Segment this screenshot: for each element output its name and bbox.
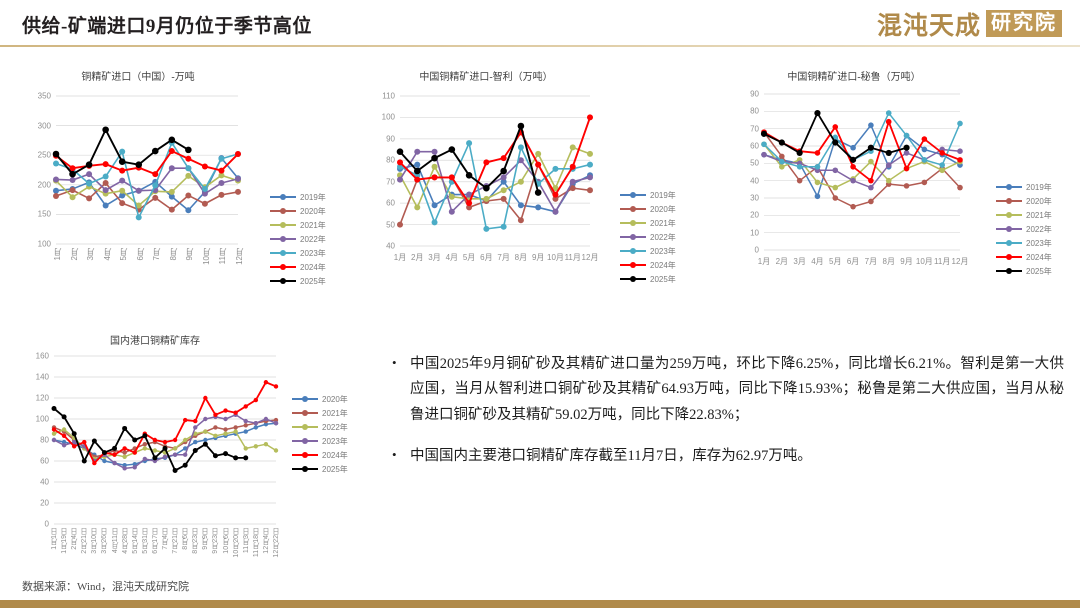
series-marker <box>152 195 158 201</box>
legend-item-2023年[interactable]: 2023年 <box>996 236 1052 250</box>
series-marker <box>815 150 821 156</box>
series-marker <box>72 444 76 448</box>
x-axis-tick: 11月18日 <box>252 528 262 557</box>
series-marker <box>82 459 87 464</box>
series-marker <box>185 165 191 171</box>
legend-label: 2019年 <box>650 190 676 201</box>
series-marker <box>779 159 785 165</box>
x-axis-tick: 5月14日 <box>131 528 141 554</box>
legend-label: 2021年 <box>1026 210 1052 221</box>
legend-item-2024年[interactable]: 2024年 <box>620 258 676 272</box>
legend-label: 2024年 <box>322 450 348 461</box>
series-marker <box>264 442 268 446</box>
legend-item-2022年[interactable]: 2022年 <box>270 232 326 246</box>
legend-item-2025年[interactable]: 2025年 <box>996 264 1052 278</box>
series-marker <box>62 414 67 419</box>
series-marker <box>886 110 892 116</box>
series-marker <box>136 188 142 194</box>
series-marker <box>223 427 227 431</box>
x-axis-tick: 6月17日 <box>151 528 161 554</box>
series-marker <box>466 200 472 206</box>
series-marker <box>70 187 76 193</box>
legend-item-2025年[interactable]: 2025年 <box>270 274 326 288</box>
series-marker <box>169 148 175 154</box>
series-marker <box>169 137 176 144</box>
legend-label: 2021年 <box>322 408 348 419</box>
series-marker <box>254 398 258 402</box>
x-axis-tick: 12月 <box>952 256 969 267</box>
legend-item-2024年[interactable]: 2024年 <box>270 260 326 274</box>
series-marker <box>850 145 856 151</box>
series-marker <box>432 202 438 208</box>
series-marker <box>483 226 489 232</box>
legend-swatch-icon <box>996 196 1022 206</box>
series-marker <box>86 171 92 177</box>
series-marker <box>233 455 238 460</box>
data-source-note: 数据来源：Wind，混沌天成研究院 <box>22 578 189 594</box>
series-marker <box>552 192 558 198</box>
legend-swatch-icon <box>270 262 296 272</box>
series-marker <box>274 384 278 388</box>
series-marker <box>52 406 57 411</box>
footer-bar <box>0 600 1080 608</box>
series-marker <box>185 147 192 154</box>
series-marker <box>264 417 268 421</box>
series-marker <box>466 140 472 146</box>
x-axis-tick: 12月22日 <box>272 528 282 558</box>
legend-item-2023年[interactable]: 2023年 <box>620 244 676 258</box>
series-marker <box>552 209 558 215</box>
series-marker <box>570 144 576 150</box>
x-axis-tick: 6月 <box>847 256 859 267</box>
x-axis-tick: 1月19日 <box>60 528 70 554</box>
series-marker <box>122 455 126 459</box>
bullet-item: •中国国内主要港口铜精矿库存截至11月7日，库存为62.97万吨。 <box>392 444 1064 469</box>
x-axis-tick: 4月28日 <box>121 528 131 554</box>
series-marker <box>939 162 945 168</box>
legend-label: 2025年 <box>650 274 676 285</box>
legend-label: 2022年 <box>650 232 676 243</box>
legend-item-2025年[interactable]: 2025年 <box>620 272 676 286</box>
company-logo: 混沌天成 研究院 <box>877 7 1062 40</box>
series-marker <box>779 154 785 160</box>
series-marker <box>483 185 490 192</box>
x-axis-tick: 6月 <box>135 248 146 260</box>
series-marker <box>102 459 106 463</box>
series-marker <box>922 180 928 186</box>
series-marker <box>832 185 838 191</box>
series-line <box>764 113 960 167</box>
series-marker <box>886 178 892 184</box>
series-marker <box>518 202 524 208</box>
series-marker <box>70 177 76 183</box>
x-axis-tick: 3月26日 <box>100 528 110 554</box>
series-marker <box>143 446 147 450</box>
legend-label: 2023年 <box>300 248 326 259</box>
legend-item-2025年[interactable]: 2025年 <box>292 462 348 476</box>
series-marker <box>449 146 456 153</box>
x-axis-tick: 9月9日 <box>201 528 211 550</box>
series-marker <box>449 194 455 200</box>
x-axis-tick: 1月 <box>394 252 406 263</box>
series-marker <box>213 413 217 417</box>
series-marker <box>397 148 404 155</box>
series-marker <box>173 468 178 473</box>
legend-swatch-icon <box>996 224 1022 234</box>
series-marker <box>587 174 593 180</box>
series-marker <box>254 421 258 425</box>
series-marker <box>203 442 208 447</box>
series-line <box>764 125 960 196</box>
series-marker <box>414 149 420 155</box>
x-axis-tick: 7月21日 <box>171 528 181 554</box>
series-marker <box>815 180 821 186</box>
chart-copper-import-chile: 中国铜精矿进口-智利（万吨）4050607080901001101月2月3月4月… <box>362 68 692 278</box>
series-marker <box>185 173 191 179</box>
x-axis-tick: 7月 <box>151 248 162 260</box>
series-marker <box>119 149 125 155</box>
series-marker <box>193 419 197 423</box>
series-marker <box>153 448 157 452</box>
legend-swatch-icon <box>270 234 296 244</box>
legend-swatch-icon <box>292 408 318 418</box>
series-marker <box>218 156 224 162</box>
legend-label: 2023年 <box>322 436 348 447</box>
series-marker <box>62 434 66 438</box>
series-marker <box>72 431 77 436</box>
page-header: 供给-矿端进口9月仍位于季节高位 混沌天成 研究院 <box>0 0 1080 47</box>
series-marker <box>868 145 874 151</box>
series-marker <box>570 164 576 170</box>
series-marker <box>939 167 945 173</box>
series-marker <box>449 209 455 215</box>
series-marker <box>957 185 963 191</box>
legend-item-2020年[interactable]: 2020年 <box>620 202 676 216</box>
series-marker <box>957 157 963 163</box>
series-marker <box>202 186 208 192</box>
series-marker <box>69 171 76 178</box>
x-axis-tick: 10月 <box>916 256 933 267</box>
series-marker <box>397 159 403 165</box>
legend-swatch-icon <box>620 232 646 242</box>
series-marker <box>397 177 403 183</box>
legend-item-2023年[interactable]: 2023年 <box>292 434 348 448</box>
legend-label: 2024年 <box>300 262 326 273</box>
series-marker <box>868 199 874 205</box>
legend-item-2019年[interactable]: 2019年 <box>270 190 326 204</box>
legend-swatch-icon <box>996 182 1022 192</box>
series-marker <box>213 434 217 438</box>
x-axis-tick: 9月23日 <box>211 528 221 554</box>
x-axis-tick: 2月 <box>411 252 423 263</box>
series-marker <box>243 455 248 460</box>
series-marker <box>218 180 224 186</box>
chart-legend: 2019年2020年2021年2022年2023年2024年2025年 <box>620 188 676 286</box>
series-marker <box>203 396 207 400</box>
legend-swatch-icon <box>620 218 646 228</box>
series-marker <box>274 421 278 425</box>
series-marker <box>244 404 248 408</box>
legend-item-2021年[interactable]: 2021年 <box>292 406 348 420</box>
series-marker <box>904 166 910 172</box>
x-axis-tick: 3月 <box>85 248 96 260</box>
x-axis-tick: 3月 <box>793 256 805 267</box>
series-marker <box>122 446 126 450</box>
series-marker <box>235 189 241 195</box>
x-axis-tick: 5月31日 <box>141 528 151 554</box>
series-marker <box>779 164 785 170</box>
series-marker <box>53 193 59 199</box>
legend-swatch-icon <box>996 238 1022 248</box>
series-marker <box>235 151 241 157</box>
series-marker <box>122 426 127 431</box>
series-marker <box>223 451 228 456</box>
x-axis-tick: 10月 <box>547 252 564 263</box>
series-marker <box>132 438 137 443</box>
legend-swatch-icon <box>292 422 318 432</box>
series-marker <box>169 207 175 213</box>
series-marker <box>761 131 767 137</box>
series-marker <box>82 440 86 444</box>
series-marker <box>223 432 227 436</box>
legend-label: 2025年 <box>1026 266 1052 277</box>
legend-label: 2021年 <box>300 220 326 231</box>
legend-item-2022年[interactable]: 2022年 <box>996 222 1052 236</box>
series-marker <box>587 114 593 120</box>
series-marker <box>939 150 945 156</box>
x-axis-tick: 8月6日 <box>181 528 191 550</box>
series-marker <box>535 162 541 168</box>
x-axis-tick: 11月3日 <box>242 528 252 553</box>
page-title: 供给-矿端进口9月仍位于季节高位 <box>22 11 312 38</box>
x-axis-tick: 4月 <box>446 252 458 263</box>
series-marker <box>832 139 838 145</box>
series-marker <box>62 443 66 447</box>
series-marker <box>903 145 909 151</box>
series-marker <box>466 172 473 179</box>
series-marker <box>102 126 109 133</box>
x-axis-tick: 4月 <box>102 248 113 260</box>
legend-item-2019年[interactable]: 2019年 <box>996 180 1052 194</box>
legend-label: 2019年 <box>1026 182 1052 193</box>
series-marker <box>143 442 147 446</box>
legend-item-2022年[interactable]: 2022年 <box>292 420 348 434</box>
legend-label: 2022年 <box>322 422 348 433</box>
series-marker <box>832 167 838 173</box>
series-marker <box>868 159 874 165</box>
x-axis-tick: 11月 <box>565 252 581 263</box>
series-marker <box>254 425 258 429</box>
series-marker <box>136 214 142 220</box>
series-marker <box>202 201 208 207</box>
series-marker <box>244 423 248 427</box>
legend-item-2020年[interactable]: 2020年 <box>270 204 326 218</box>
series-marker <box>213 425 217 429</box>
series-marker <box>432 149 438 155</box>
x-axis-tick: 9月 <box>184 248 195 260</box>
legend-label: 2023年 <box>650 246 676 257</box>
legend-swatch-icon <box>996 266 1022 276</box>
legend-item-2023年[interactable]: 2023年 <box>270 246 326 260</box>
series-marker <box>163 455 167 459</box>
x-axis-tick: 7月4日 <box>161 528 171 550</box>
x-axis-tick: 1月 <box>52 248 63 260</box>
x-axis-tick: 12月 <box>582 252 599 263</box>
series-marker <box>152 182 158 188</box>
series-marker <box>264 380 268 384</box>
x-axis-tick: 4月11日 <box>111 528 121 553</box>
x-axis-tick: 12月 <box>234 248 245 265</box>
x-axis-tick: 8月 <box>882 256 894 267</box>
legend-swatch-icon <box>270 192 296 202</box>
x-axis-tick: 1月1日 <box>50 528 60 550</box>
legend-swatch-icon <box>620 274 646 284</box>
series-marker <box>886 119 892 125</box>
legend-label: 2024年 <box>650 260 676 271</box>
series-marker <box>185 156 191 162</box>
legend-item-2024年[interactable]: 2024年 <box>996 250 1052 264</box>
legend-label: 2025年 <box>300 276 326 287</box>
series-marker <box>119 188 125 194</box>
series-marker <box>133 450 137 454</box>
series-marker <box>850 157 856 163</box>
legend-swatch-icon <box>292 436 318 446</box>
series-marker <box>432 174 438 180</box>
x-axis-tick: 7月 <box>865 256 877 267</box>
series-marker <box>414 204 420 210</box>
legend-swatch-icon <box>620 246 646 256</box>
series-marker <box>142 433 147 438</box>
series-marker <box>119 200 125 206</box>
series-marker <box>500 168 507 175</box>
chart-legend: 2019年2020年2021年2022年2023年2024年2025年 <box>996 180 1052 278</box>
series-marker <box>832 124 838 130</box>
series-marker <box>183 418 187 422</box>
series-marker <box>103 161 109 167</box>
series-marker <box>92 439 97 444</box>
legend-label: 2019年 <box>300 192 326 203</box>
x-axis-tick: 9月 <box>532 252 544 263</box>
x-axis-tick: 5月 <box>829 256 841 267</box>
x-axis-tick: 3月10日 <box>90 528 100 554</box>
legend-item-2020年[interactable]: 2020年 <box>292 392 348 406</box>
legend-label: 2025年 <box>322 464 348 475</box>
series-marker <box>112 453 116 457</box>
series-marker <box>193 448 198 453</box>
series-marker <box>432 219 438 225</box>
series-marker <box>213 453 218 458</box>
series-marker <box>122 466 126 470</box>
series-marker <box>761 152 767 158</box>
bullet-text: 中国国内主要港口铜精矿库存截至11月7日，库存为62.97万吨。 <box>410 444 1064 469</box>
legend-item-2020年[interactable]: 2020年 <box>996 194 1052 208</box>
series-marker <box>922 157 928 163</box>
series-marker <box>850 164 856 170</box>
series-marker <box>868 122 874 128</box>
x-axis-tick: 8月 <box>168 248 179 260</box>
logo-badge: 研究院 <box>986 10 1062 37</box>
series-marker <box>518 123 525 130</box>
legend-swatch-icon <box>996 210 1022 220</box>
series-marker <box>414 177 420 183</box>
legend-item-2024年[interactable]: 2024年 <box>292 448 348 462</box>
series-marker <box>535 151 541 157</box>
x-axis-tick: 10月 <box>201 248 212 265</box>
series-marker <box>904 183 910 189</box>
series-marker <box>814 110 820 116</box>
series-marker <box>518 217 524 223</box>
x-axis-tick: 2月 <box>69 248 80 260</box>
series-marker <box>518 144 524 150</box>
series-marker <box>233 411 237 415</box>
legend-label: 2020年 <box>1026 196 1052 207</box>
bullet-marker-icon: • <box>392 352 410 428</box>
legend-item-2021年[interactable]: 2021年 <box>620 216 676 230</box>
legend-swatch-icon <box>270 206 296 216</box>
series-marker <box>957 121 963 127</box>
legend-label: 2022年 <box>300 234 326 245</box>
series-marker <box>185 192 191 198</box>
series-marker <box>173 453 177 457</box>
series-marker <box>483 196 489 202</box>
bullet-item: •中国2025年9月铜矿砂及其精矿进口量为259万吨，环比下降6.25%，同比增… <box>392 352 1064 428</box>
legend-item-2021年[interactable]: 2021年 <box>996 208 1052 222</box>
series-marker <box>414 162 420 168</box>
series-marker <box>922 147 928 153</box>
legend-swatch-icon <box>270 220 296 230</box>
series-marker <box>193 425 197 429</box>
legend-item-2019年[interactable]: 2019年 <box>620 188 676 202</box>
chart-legend: 2020年2021年2022年2023年2024年2025年 <box>292 392 348 476</box>
x-axis-tick: 3月 <box>428 252 440 263</box>
series-line <box>56 151 238 174</box>
x-axis-tick: 10月6日 <box>222 528 232 554</box>
chart-copper-import-peru: 中国铜精矿进口-秘鲁（万吨）01020304050607080901月2月3月4… <box>728 68 1074 278</box>
series-marker <box>223 417 227 421</box>
legend-label: 2022年 <box>1026 224 1052 235</box>
series-marker <box>850 204 856 210</box>
series-marker <box>761 141 767 147</box>
x-axis-tick: 8月 <box>515 252 527 263</box>
legend-item-2021年[interactable]: 2021年 <box>270 218 326 232</box>
series-marker <box>233 429 237 433</box>
series-marker <box>53 151 60 158</box>
series-marker <box>122 450 126 454</box>
x-axis-tick: 10月20日 <box>232 528 242 558</box>
legend-swatch-icon <box>270 248 296 258</box>
series-marker <box>119 158 126 165</box>
x-axis-tick: 11月 <box>217 248 228 264</box>
legend-label: 2020年 <box>650 204 676 215</box>
x-axis-tick: 9月 <box>900 256 912 267</box>
series-marker <box>169 189 175 195</box>
series-marker <box>832 195 838 201</box>
bullet-text: 中国2025年9月铜矿砂及其精矿进口量为259万吨，环比下降6.25%，同比增长… <box>410 352 1064 428</box>
bullet-marker-icon: • <box>392 444 410 469</box>
legend-label: 2020年 <box>300 206 326 217</box>
x-axis-tick: 4月 <box>811 256 823 267</box>
series-marker <box>203 429 207 433</box>
series-marker <box>143 457 147 461</box>
legend-item-2022年[interactable]: 2022年 <box>620 230 676 244</box>
series-marker <box>163 440 167 444</box>
series-marker <box>587 187 593 193</box>
series-marker <box>235 176 241 182</box>
series-marker <box>432 164 438 170</box>
series-marker <box>254 444 258 448</box>
series-marker <box>119 178 125 184</box>
x-axis-tick: 1月 <box>758 256 770 267</box>
